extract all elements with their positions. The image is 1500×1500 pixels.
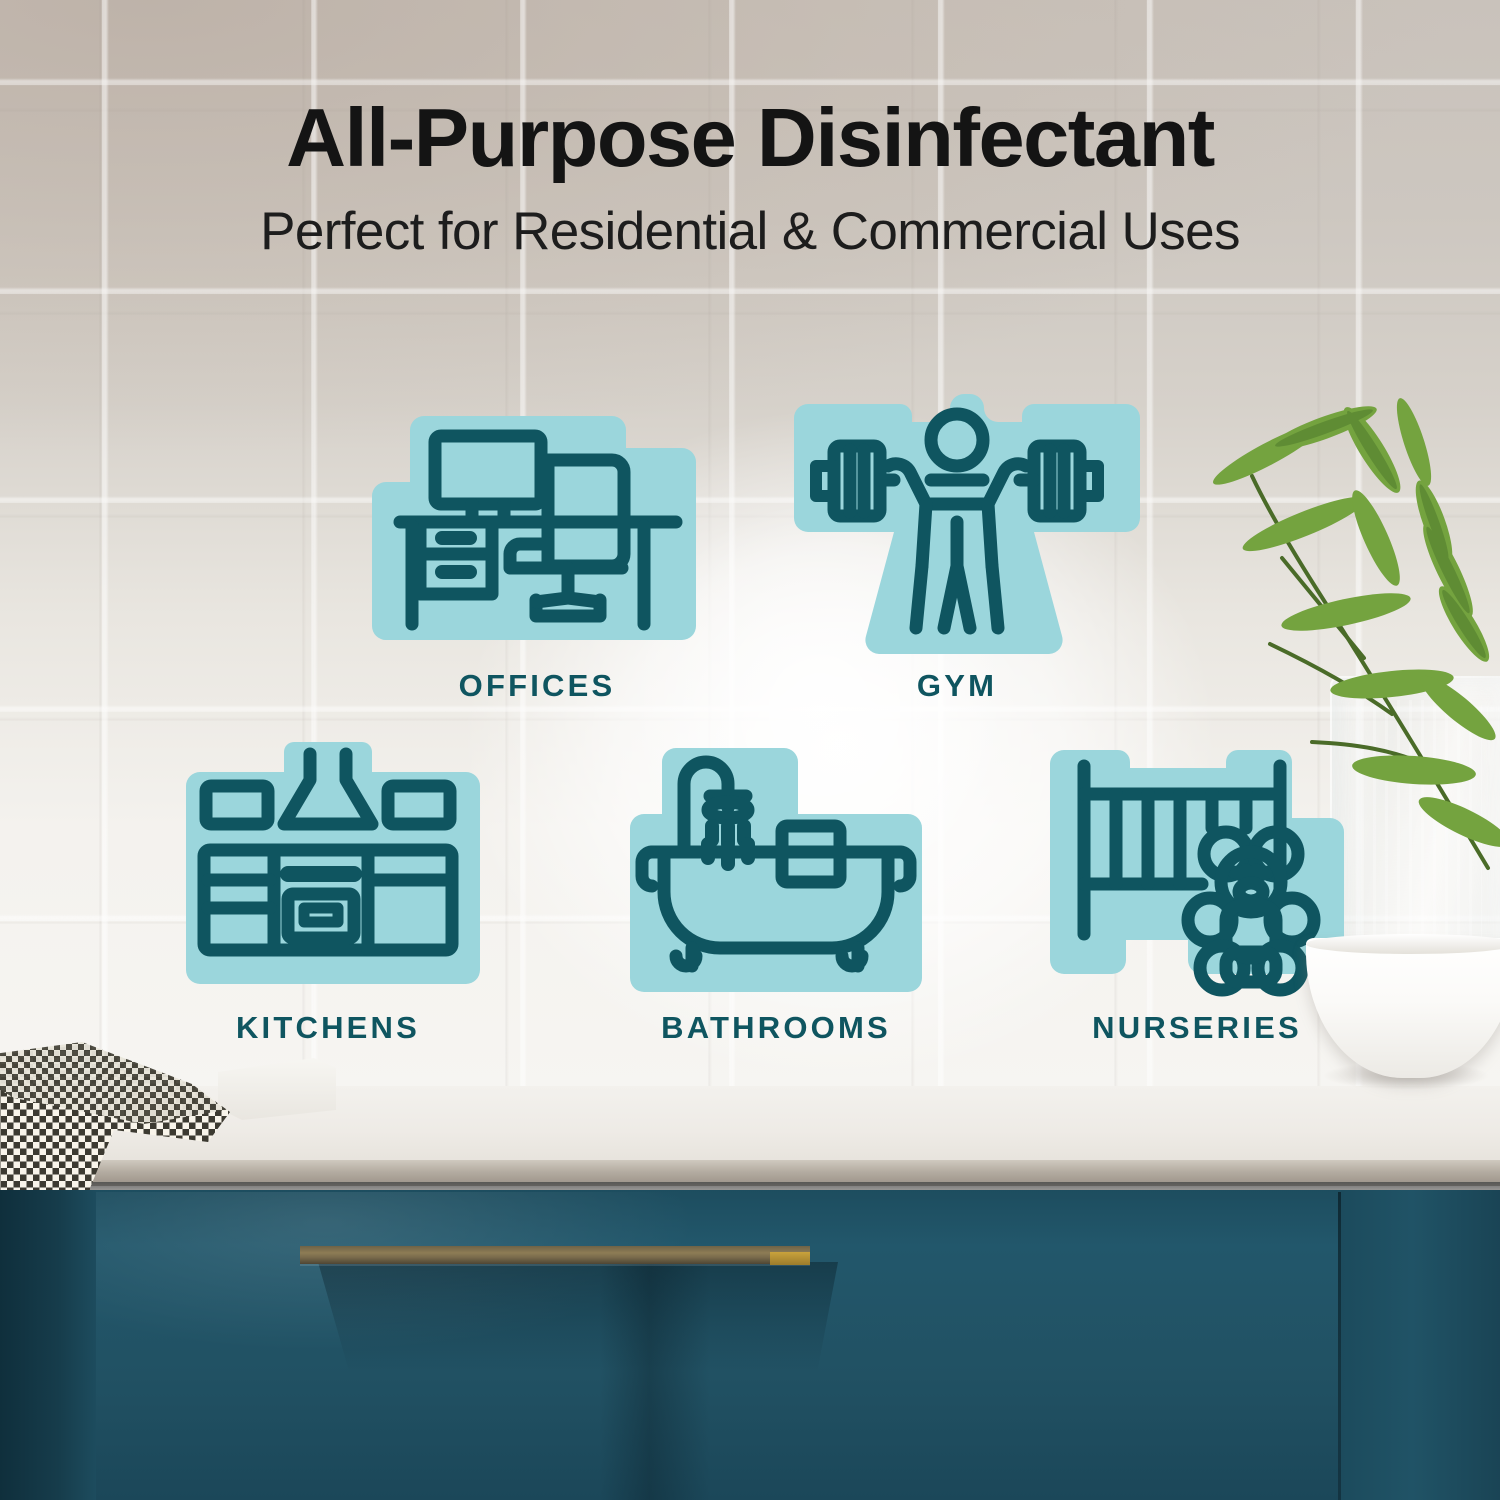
weightlifter-barbell-icon [792,392,1122,654]
product-infographic: All-Purpose Disinfectant Perfect for Res… [0,0,1500,1500]
office-desk-chair-icon [372,404,702,654]
kitchen-cabinets-stove-icon [176,742,480,998]
clawfoot-bathtub-shower-icon [630,748,922,992]
category-label-offices: OFFICES [372,668,702,704]
category-label-bathrooms: BATHROOMS [630,1010,922,1046]
category-badge-offices[interactable] [372,404,702,654]
cabinet-handle-cap [770,1252,810,1265]
category-label-nurseries: NURSERIES [1050,1010,1344,1046]
category-badge-kitchens[interactable] [176,742,480,998]
cabinet-right-panel [1341,1190,1500,1500]
handle-shadow [318,1262,838,1372]
cabinet-handle[interactable] [300,1246,810,1264]
category-label-gym: GYM [792,668,1122,704]
page-subtitle: Perfect for Residential & Commercial Use… [0,205,1500,258]
heading-block: All-Purpose Disinfectant Perfect for Res… [0,96,1500,258]
category-badge-nurseries[interactable] [1050,736,1344,1000]
crib-teddy-bear-icon [1050,736,1344,1000]
category-badge-bathrooms[interactable] [630,748,922,992]
bowl-rim [1306,934,1500,954]
page-title: All-Purpose Disinfectant [0,96,1500,179]
cabinet-left-side [0,1190,96,1500]
category-badge-gym[interactable] [792,392,1122,654]
